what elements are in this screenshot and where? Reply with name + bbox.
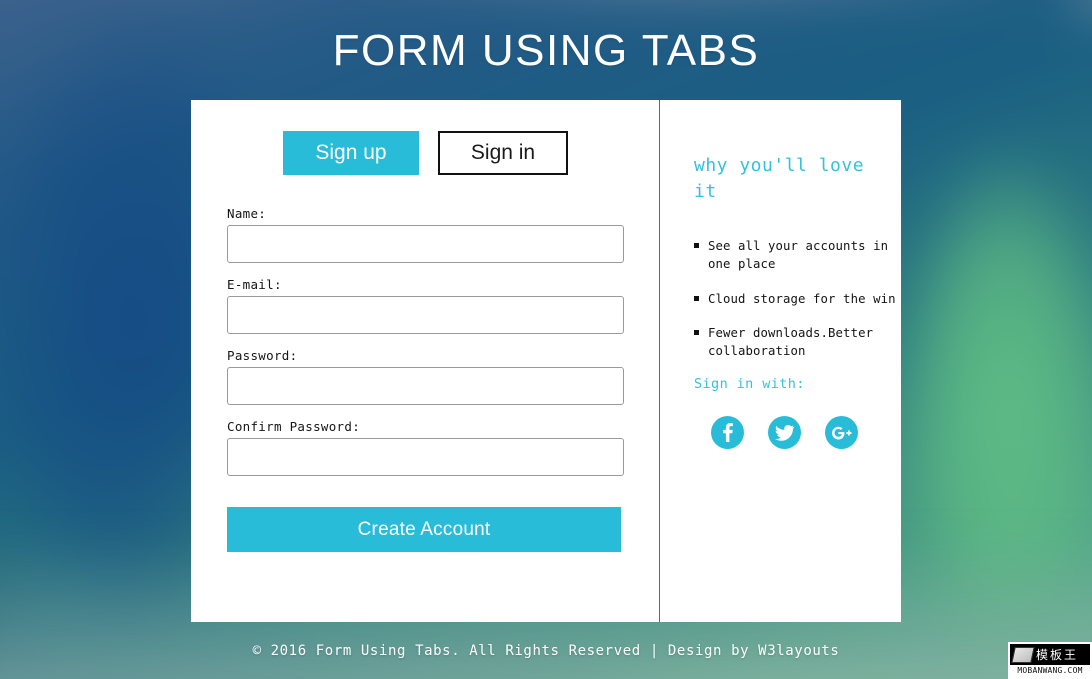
confirm-password-label: Confirm Password: [227,419,623,434]
field-confirm-password: Confirm Password: [227,419,623,476]
field-name: Name: [227,206,623,263]
info-title: why you'll love it [694,153,880,205]
list-item: See all your accounts in one place [694,237,900,273]
info-pane: why you'll love it See all your accounts… [660,100,901,622]
list-item: Fewer downloads.Better collaboration [694,324,900,360]
benefits-list: See all your accounts in one place Cloud… [694,237,901,360]
confirm-password-input[interactable] [227,438,624,476]
watermark-badge: 模板王 MOBANWANG.COM [1008,642,1092,679]
password-label: Password: [227,348,623,363]
name-label: Name: [227,206,623,221]
page-title: FORM USING TABS [0,26,1092,76]
watermark-top: 模板王 [1010,644,1090,665]
tab-sign-in[interactable]: Sign in [438,131,568,175]
list-item: Cloud storage for the win [694,290,900,308]
email-label: E-mail: [227,277,623,292]
google-plus-icon[interactable] [825,416,858,449]
social-sign-in-label: Sign in with: [694,376,901,392]
name-input[interactable] [227,225,624,263]
sign-up-form: Name: E-mail: Password: Confirm Password… [227,206,623,552]
facebook-icon[interactable] [711,416,744,449]
footer: © 2016 Form Using Tabs. All Rights Reser… [0,622,1092,679]
tab-sign-up[interactable]: Sign up [283,131,419,175]
email-input[interactable] [227,296,624,334]
form-pane: Sign up Sign in Name: E-mail: Password: … [191,100,660,622]
twitter-icon[interactable] [768,416,801,449]
tab-bar: Sign up Sign in [227,131,623,175]
footer-text: © 2016 Form Using Tabs. All Rights Reser… [253,643,840,659]
field-email: E-mail: [227,277,623,334]
watermark-cn-text: 模板王 [1036,646,1078,663]
social-icon-row [694,416,901,449]
form-card: Sign up Sign in Name: E-mail: Password: … [191,100,901,622]
create-account-button[interactable]: Create Account [227,507,621,552]
watermark-domain: MOBANWANG.COM [1010,665,1090,677]
password-input[interactable] [227,367,624,405]
field-password: Password: [227,348,623,405]
watermark-logo-icon [1011,647,1034,663]
